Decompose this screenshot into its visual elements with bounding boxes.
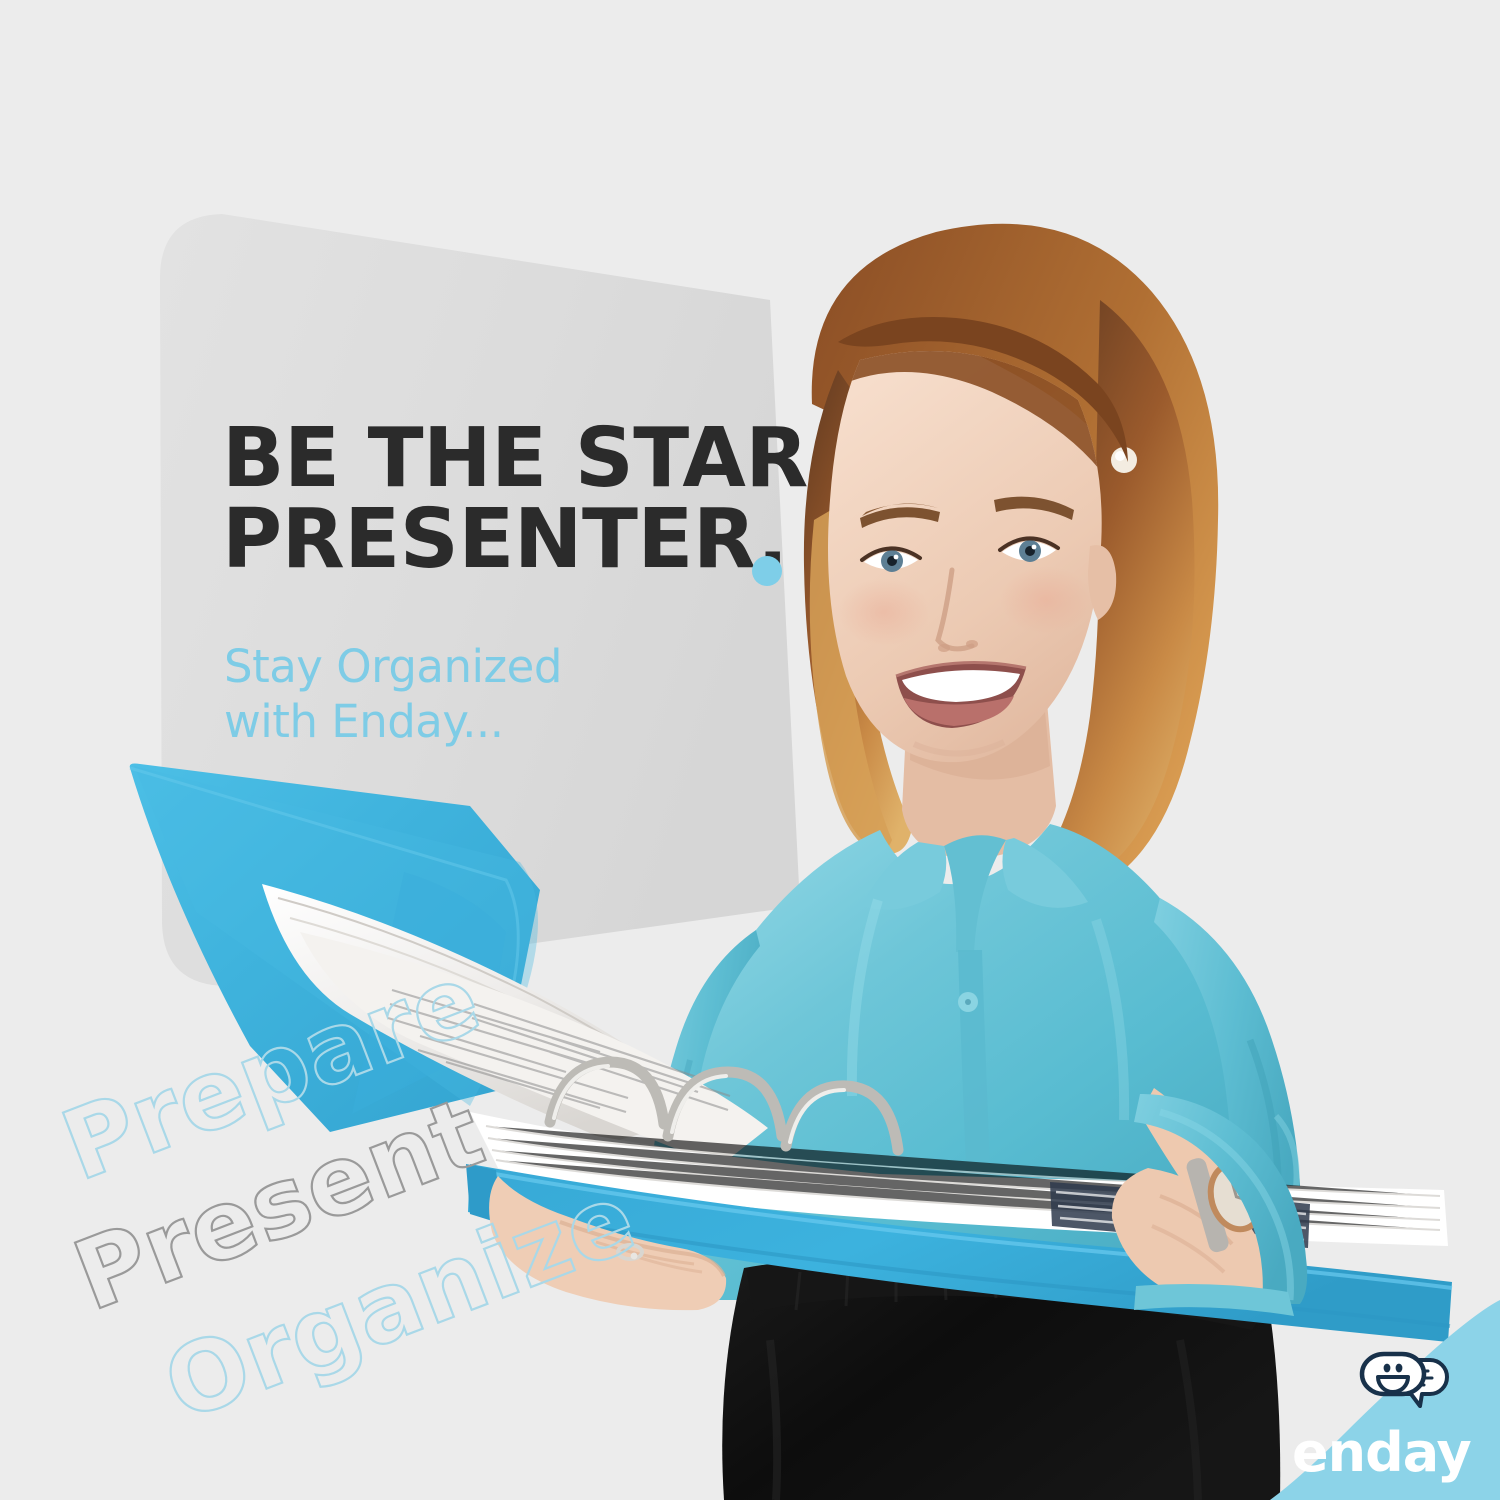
accent-dot-icon: [752, 556, 782, 586]
logo-wordmark: enday: [1292, 1421, 1471, 1484]
subheadline: Stay Organized with Enday...: [224, 640, 684, 750]
speech-bubble-smile-icon: [1358, 1348, 1450, 1422]
enday-logo-badge: enday: [1270, 1300, 1500, 1500]
product-marketing-image: BE THE STAR PRESENTER. Stay Organized wi…: [0, 0, 1500, 1500]
